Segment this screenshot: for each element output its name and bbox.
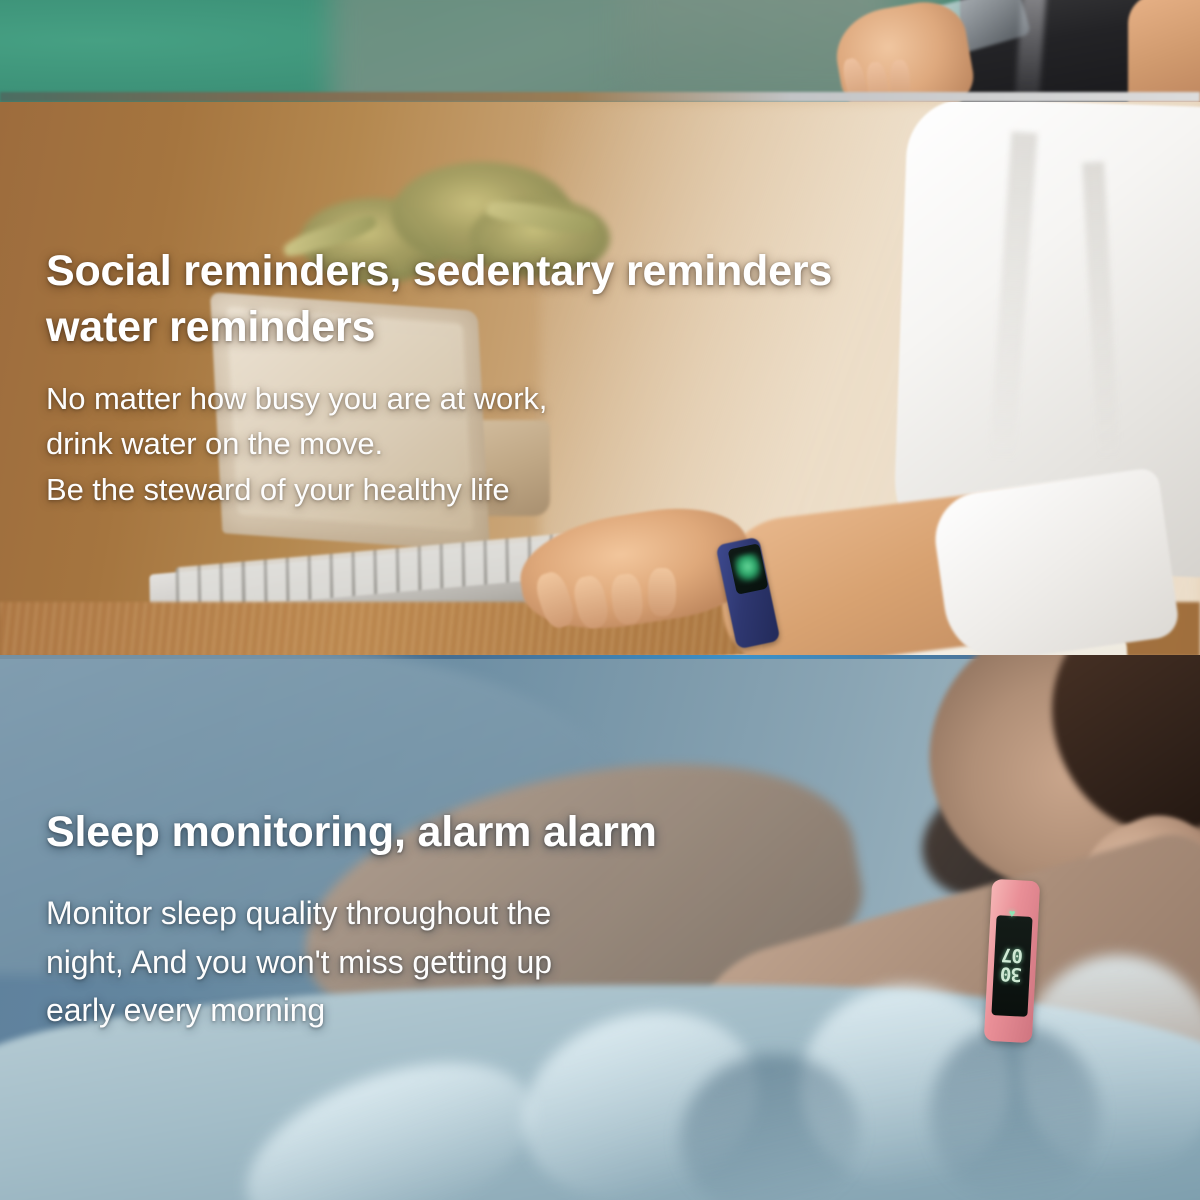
panel-sleep-monitoring: ♥ 30 07 Sleep monitoring, alarm alarm Mo… <box>0 655 1200 1200</box>
product-feature-page: Social reminders, sedentary reminders wa… <box>0 0 1200 1200</box>
panel-teal-strip <box>0 0 1200 102</box>
panel-reminders: Social reminders, sedentary reminders wa… <box>0 102 1200 655</box>
reminders-copy-block: Social reminders, sedentary reminders wa… <box>46 244 976 512</box>
sleep-copy-block: Sleep monitoring, alarm alarm Monitor sl… <box>46 805 746 1035</box>
watch-minute: 30 <box>1001 963 1023 983</box>
fitness-band-screen-glow <box>732 552 763 585</box>
reminders-body-text: No matter how busy you are at work, drin… <box>46 376 976 513</box>
heart-icon: ♥ <box>1005 908 1020 921</box>
person-arm <box>1128 0 1200 102</box>
table-edge <box>0 92 1200 102</box>
watch-time-display: 30 07 <box>992 925 1032 1003</box>
watch-hour: 07 <box>1002 944 1024 964</box>
finger <box>648 568 676 616</box>
sleep-body-text: Monitor sleep quality throughout the nig… <box>46 889 746 1035</box>
sleep-headline: Sleep monitoring, alarm alarm <box>46 805 746 861</box>
reminders-headline: Social reminders, sedentary reminders wa… <box>46 244 976 356</box>
